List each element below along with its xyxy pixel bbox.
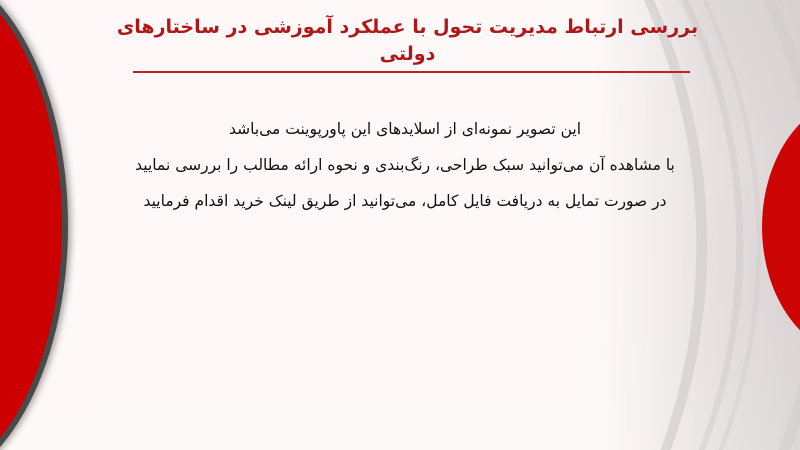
slide-body-text: این تصویر نمونه‌ای از اسلایدهای این پاور…: [115, 112, 695, 220]
body-line-1: این تصویر نمونه‌ای از اسلایدهای این پاور…: [115, 112, 695, 148]
slide-text-content: بررسی ارتباط مدیریت تحول با عملکرد آموزش…: [0, 0, 800, 450]
title-divider: [133, 71, 690, 73]
body-line-2: با مشاهده آن می‌توانید سبک طراحی، رنگ‌بن…: [115, 148, 695, 184]
body-line-3: در صورت تمایل به دریافت فایل کامل، می‌تو…: [115, 184, 695, 220]
presentation-slide: بررسی ارتباط مدیریت تحول با عملکرد آموزش…: [0, 0, 800, 450]
slide-title: بررسی ارتباط مدیریت تحول با عملکرد آموزش…: [110, 14, 705, 68]
